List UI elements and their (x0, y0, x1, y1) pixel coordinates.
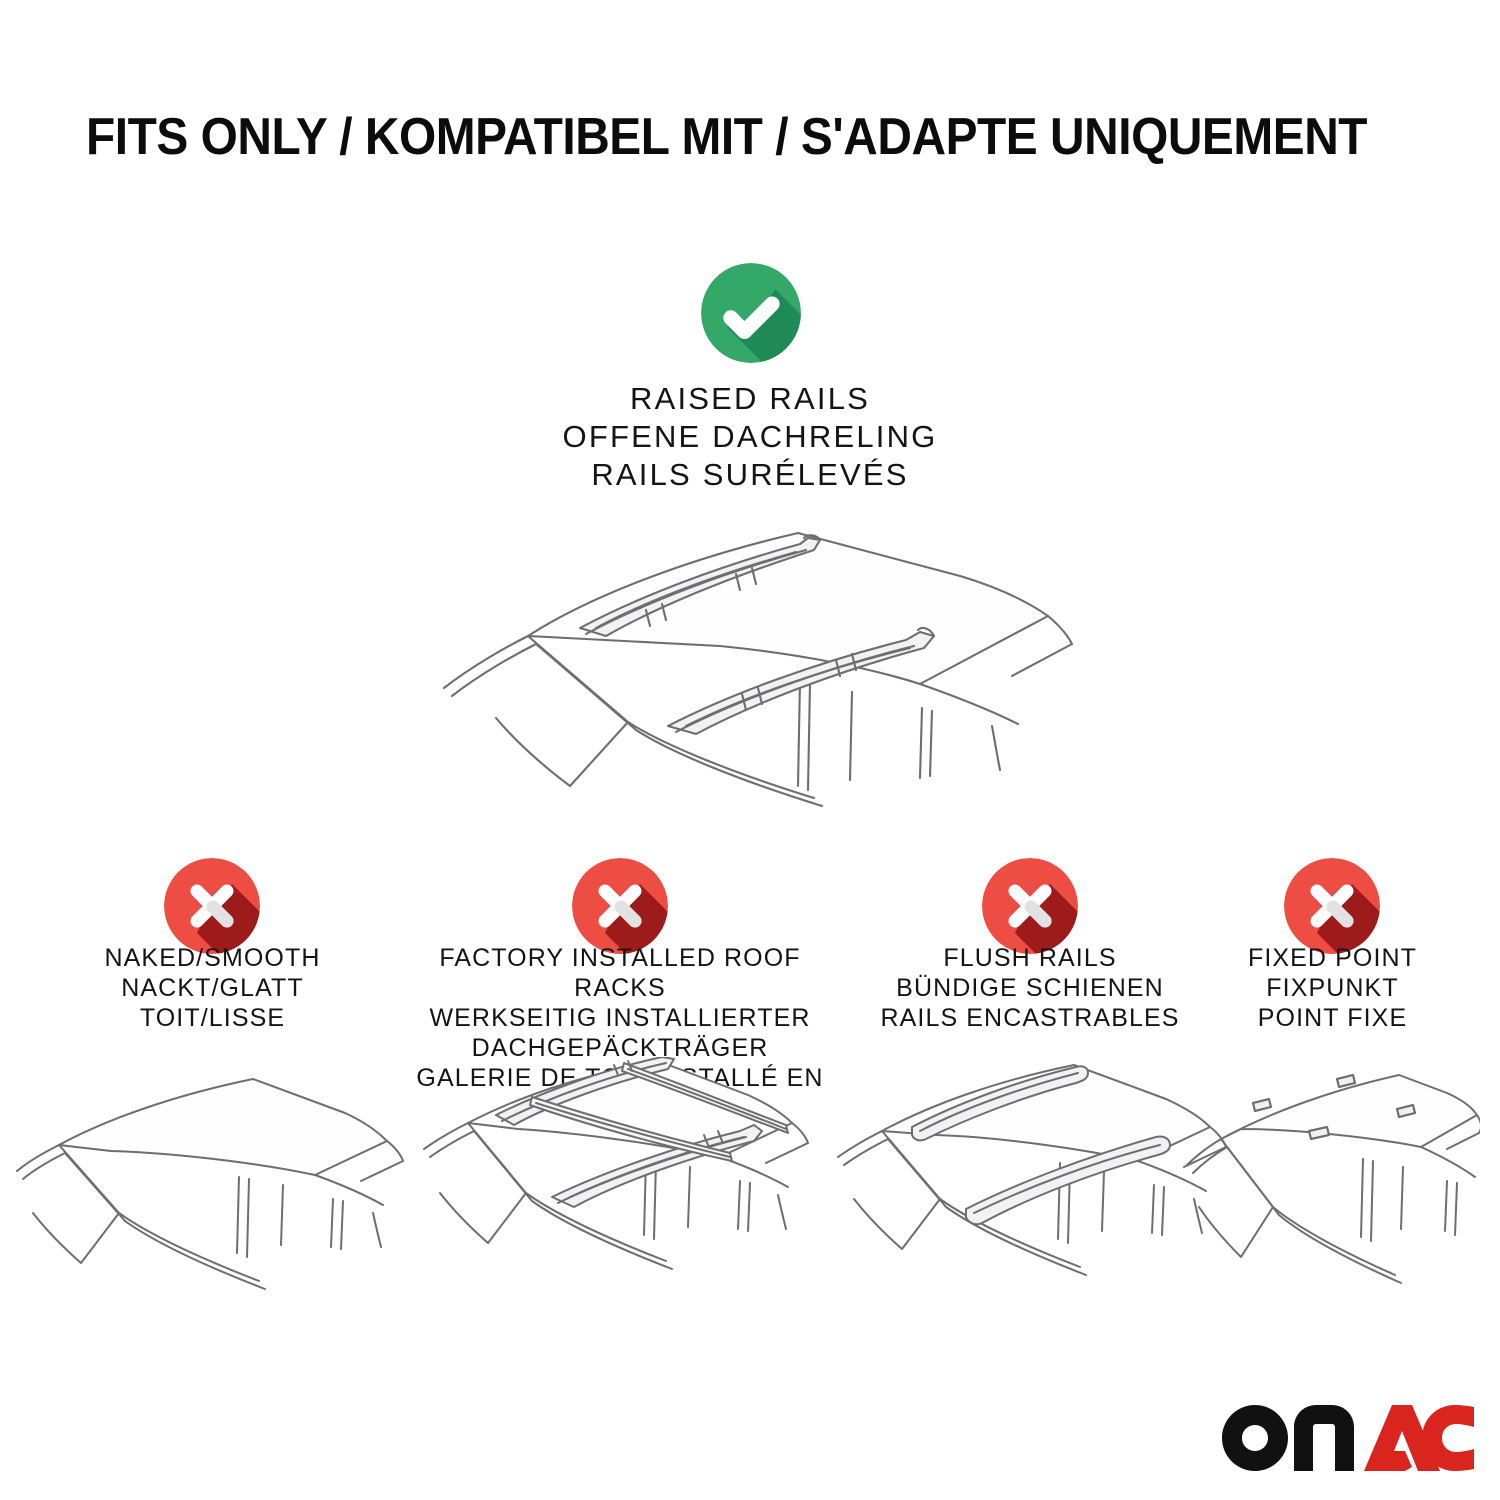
incompatible-label-de: FIXPUNKT (1185, 973, 1480, 1003)
incompatible-label-de1: WERKSEITIG INSTALLIERTER (410, 1003, 830, 1033)
incompatible-label-de: NACKT/GLATT (15, 973, 410, 1003)
incompatible-label-en: FLUSH RAILS (830, 943, 1230, 973)
cross-circle-icon (982, 858, 1078, 954)
incompatible-item-flush-rails: FLUSH RAILS BÜNDIGE SCHIENEN RAILS ENCAS… (830, 845, 1230, 1465)
incompatible-label-en: FACTORY INSTALLED ROOF RACKS (410, 943, 830, 1003)
omac-logo (1222, 1405, 1474, 1471)
car-roof-raised-rails-diagram (400, 518, 1100, 828)
car-roof-flush-rails-diagram (830, 1057, 1230, 1297)
compatible-label-en: RAISED RAILS (450, 380, 1050, 418)
cross-circle-icon (164, 858, 260, 954)
check-circle-icon (701, 263, 801, 363)
incompatible-item-fixed-point: FIXED POINT FIXPUNKT POINT FIXE (1185, 845, 1480, 1465)
omac-logo-letter-m (1294, 1405, 1354, 1471)
incompatible-item-naked-smooth: NAKED/SMOOTH NACKT/GLATT TOIT/LISSE (15, 845, 410, 1465)
incompatible-label-fr: TOIT/LISSE (15, 1003, 410, 1033)
car-roof-naked-smooth-diagram (15, 1067, 410, 1307)
incompatible-label-fr: POINT FIXE (1185, 1003, 1480, 1033)
compatible-label-de: OFFENE DACHRELING (450, 418, 1050, 456)
compatible-label-fr: RAILS SURÉLEVÉS (450, 456, 1050, 494)
incompatible-label-en: FIXED POINT (1185, 943, 1480, 973)
cross-circle-icon (572, 858, 668, 954)
car-roof-factory-racks-diagram (410, 1057, 830, 1297)
omac-logo-letter-o (1222, 1405, 1288, 1471)
incompatible-item-factory-racks: FACTORY INSTALLED ROOF RACKS WERKSEITIG … (410, 845, 830, 1465)
incompatible-row: NAKED/SMOOTH NACKT/GLATT TOIT/LISSE (0, 845, 1500, 1465)
incompatible-label-de: BÜNDIGE SCHIENEN (830, 973, 1230, 1003)
page-title: FITS ONLY / KOMPATIBEL MIT / S'ADAPTE UN… (86, 108, 1310, 166)
incompatible-caption: FLUSH RAILS BÜNDIGE SCHIENEN RAILS ENCAS… (830, 943, 1230, 1033)
incompatible-label-fr: RAILS ENCASTRABLES (830, 1003, 1230, 1033)
car-roof-fixed-point-diagram (1185, 1067, 1480, 1307)
compatible-caption: RAISED RAILS OFFENE DACHRELING RAILS SUR… (450, 380, 1050, 494)
cross-circle-icon (1284, 858, 1380, 954)
incompatible-caption: NAKED/SMOOTH NACKT/GLATT TOIT/LISSE (15, 943, 410, 1033)
incompatible-caption: FIXED POINT FIXPUNKT POINT FIXE (1185, 943, 1480, 1033)
incompatible-label-en: NAKED/SMOOTH (15, 943, 410, 973)
